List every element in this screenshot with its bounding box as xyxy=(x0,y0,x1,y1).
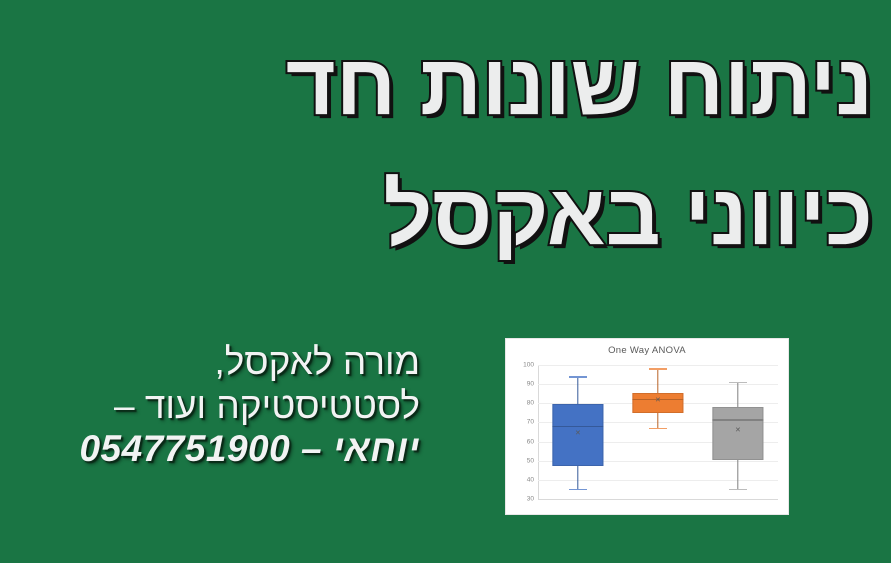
contact-info-block: מורה לאקסל, לסטטיסטיקה ועוד – יוחאי – 05… xyxy=(0,340,440,471)
y-axis-tick-label: 90 xyxy=(527,381,534,388)
whisker-lower xyxy=(737,460,738,491)
anova-boxplot-chart: One Way ANOVA 10090807060504030✕✕✕ xyxy=(505,338,789,515)
whisker-cap-upper xyxy=(569,376,587,377)
subtitle-line-2: לסטטיסטיקה ועוד – xyxy=(0,384,420,428)
median-line xyxy=(552,426,603,427)
whisker-lower xyxy=(657,413,658,429)
boxplot-series[interactable]: ✕ xyxy=(552,366,603,500)
subtitle-line-1: מורה לאקסל, xyxy=(0,340,420,384)
page-title-line-1: ניתוח שונות חד xyxy=(286,42,873,128)
slide-canvas: ניתוח שונות חד כיווני באקסל מורה לאקסל, … xyxy=(0,0,891,563)
y-axis-tick-label: 80 xyxy=(527,400,534,407)
whisker-cap-upper xyxy=(729,382,747,383)
chart-plot-area: 10090807060504030✕✕✕ xyxy=(538,366,778,500)
heading-line-1-container: ניתוח שונות חד xyxy=(18,42,873,128)
whisker-upper xyxy=(577,378,578,405)
chart-title: One Way ANOVA xyxy=(506,345,788,356)
whisker-cap-upper xyxy=(649,368,667,369)
y-axis-tick-label: 40 xyxy=(527,476,534,483)
whisker-cap-lower xyxy=(569,489,587,490)
whisker-lower xyxy=(577,466,578,491)
whisker-cap-lower xyxy=(649,428,667,429)
subtitle-line-3-contact: יוחאי – 0547751900 xyxy=(0,427,420,471)
page-title-line-2: כיווני באקסל xyxy=(383,172,873,258)
median-line xyxy=(712,419,763,420)
y-axis-tick-label: 100 xyxy=(523,362,534,369)
heading-line-2-container: כיווני באקסל xyxy=(18,172,873,258)
y-axis-tick-label: 30 xyxy=(527,496,534,503)
whisker-cap-lower xyxy=(729,489,747,490)
boxplot-series[interactable]: ✕ xyxy=(712,366,763,500)
whisker-upper xyxy=(737,383,738,407)
y-axis-tick-label: 50 xyxy=(527,457,534,464)
y-axis-tick-label: 70 xyxy=(527,419,534,426)
y-axis-tick-label: 60 xyxy=(527,438,534,445)
whisker-upper xyxy=(657,370,658,393)
boxplot-series[interactable]: ✕ xyxy=(632,366,683,500)
